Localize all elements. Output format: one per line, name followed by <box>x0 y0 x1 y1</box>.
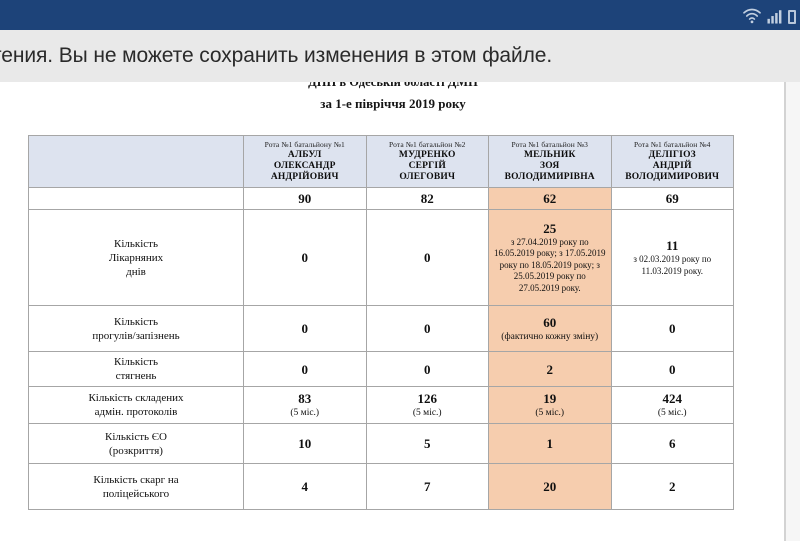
cell-value: 2 <box>489 352 612 387</box>
cell-value: 0 <box>611 306 734 352</box>
column-2-subtitle: Рота №1 батальйон №2 <box>370 140 486 150</box>
cell-value-with-note: 11 з 02.03.2019 року по 11.03.2019 року. <box>611 210 734 306</box>
cell-note: (5 міс.) <box>371 407 485 419</box>
cell-value: 7 <box>366 464 489 510</box>
battery-icon <box>788 10 796 24</box>
row-label <box>29 188 244 210</box>
table-row: Кількість прогулів/запізнень 0 0 60 (фак… <box>29 306 734 352</box>
column-3-name-line3: ВОЛОДИМИРІВНА <box>492 172 608 183</box>
cell-value: 2 <box>611 464 734 510</box>
cell-note: (5 міс.) <box>493 407 607 419</box>
cell-note: з 27.04.2019 року по 16.05.2019 року; з … <box>493 237 607 295</box>
wifi-icon <box>742 8 762 24</box>
cell-note: (5 міс.) <box>616 407 730 419</box>
cell-value-with-note: 126 (5 міс.) <box>366 387 489 424</box>
cell-number: 83 <box>298 391 311 406</box>
screen: тения. Вы не можете сохранить изменения … <box>0 0 800 541</box>
cell-value: 0 <box>244 210 367 306</box>
row-label-line1: Кількість скарг на <box>33 473 239 487</box>
column-4-name-line3: ВОЛОДИМИРОВИЧ <box>615 172 731 183</box>
cell-value: 90 <box>244 188 367 210</box>
cell-value: 10 <box>244 424 367 464</box>
column-3-name-line2: ЗОЯ <box>492 161 608 172</box>
document-title-line2: за 1-е півріччя 2019 року <box>0 96 786 112</box>
document-page: ДПП в Одеській області ДМП за 1-е півріч… <box>0 82 786 541</box>
cell-note: (фактично кожну зміну) <box>493 331 607 343</box>
row-label: Кількість складених адмін. протоколів <box>29 387 244 424</box>
row-label: Кількість прогулів/запізнень <box>29 306 244 352</box>
row-label-line2: (розкриття) <box>33 444 239 458</box>
row-label-line2: Лікарняних <box>33 251 239 265</box>
cell-value-with-note: 25 з 27.04.2019 року по 16.05.2019 року;… <box>489 210 612 306</box>
cell-value: 5 <box>366 424 489 464</box>
cell-value: 4 <box>244 464 367 510</box>
cell-value: 0 <box>366 306 489 352</box>
row-label-line2: прогулів/запізнень <box>33 329 239 343</box>
cell-note: з 02.03.2019 року по 11.03.2019 року. <box>616 254 730 277</box>
column-4-subtitle: Рота №1 батальйон №4 <box>615 140 731 150</box>
row-label-line1: Кількість <box>33 237 239 251</box>
column-4-name-line2: АНДРІЙ <box>615 161 731 172</box>
column-2-name-line2: СЕРГІЙ <box>370 161 486 172</box>
row-label-line2: поліцейського <box>33 487 239 501</box>
table-row: Кількість ЄО (розкриття) 10 5 1 6 <box>29 424 734 464</box>
row-label-line1: Кількість <box>33 315 239 329</box>
row-label-line2: адмін. протоколів <box>33 405 239 419</box>
cell-number: 60 <box>543 315 556 330</box>
column-2-name-line1: МУДРЕНКО <box>370 150 486 161</box>
column-2-name-line3: ОЛЕГОВИЧ <box>370 172 486 183</box>
cell-value: 0 <box>366 352 489 387</box>
column-1-subtitle: Рота №1 батальйону №1 <box>247 140 363 150</box>
cell-value: 0 <box>611 352 734 387</box>
row-label: Кількість ЄО (розкриття) <box>29 424 244 464</box>
table-header-row: Рота №1 батальйону №1 АЛБУЛ ОЛЕКСАНДР АН… <box>29 136 734 188</box>
cell-value-with-note: 19 (5 міс.) <box>489 387 612 424</box>
status-icons <box>742 6 796 24</box>
cell-value: 0 <box>244 352 367 387</box>
report-table: Рота №1 батальйону №1 АЛБУЛ ОЛЕКСАНДР АН… <box>28 135 734 510</box>
column-header-officer-2: Рота №1 батальйон №2 МУДРЕНКО СЕРГІЙ ОЛЕ… <box>366 136 489 188</box>
cell-value: 0 <box>244 306 367 352</box>
column-header-officer-1: Рота №1 батальйону №1 АЛБУЛ ОЛЕКСАНДР АН… <box>244 136 367 188</box>
status-bar <box>0 0 800 30</box>
readonly-notice-banner: тения. Вы не можете сохранить изменения … <box>0 30 800 82</box>
cell-value: 6 <box>611 424 734 464</box>
table-corner-cell <box>29 136 244 188</box>
cell-number: 424 <box>663 391 683 406</box>
column-header-officer-3: Рота №1 батальйон №3 МЕЛЬНИК ЗОЯ ВОЛОДИМ… <box>489 136 612 188</box>
table-row: Кількість складених адмін. протоколів 83… <box>29 387 734 424</box>
document-side-gutter <box>786 82 800 541</box>
row-label-line2: стягнень <box>33 369 239 383</box>
document-title-line1: ДПП в Одеській області ДМП <box>0 82 786 89</box>
cell-value-with-note: 60 (фактично кожну зміну) <box>489 306 612 352</box>
column-1-name-line3: АНДРІЙОВИЧ <box>247 172 363 183</box>
table-row: Кількість стягнень 0 0 2 0 <box>29 352 734 387</box>
table-row: Кількість Лікарняних днів 0 0 25 з 27.04… <box>29 210 734 306</box>
readonly-notice-text: тения. Вы не можете сохранить изменения … <box>0 44 552 68</box>
cell-value: 20 <box>489 464 612 510</box>
cellular-signal-icon <box>767 9 782 24</box>
row-label: Кількість стягнень <box>29 352 244 387</box>
row-label: Кількість скарг на поліцейського <box>29 464 244 510</box>
column-3-name-line1: МЕЛЬНИК <box>492 150 608 161</box>
cell-number: 19 <box>543 391 556 406</box>
cell-value: 1 <box>489 424 612 464</box>
row-label: Кількість Лікарняних днів <box>29 210 244 306</box>
column-3-subtitle: Рота №1 батальйон №3 <box>492 140 608 150</box>
row-label-line1: Кількість ЄО <box>33 430 239 444</box>
column-1-name-line2: ОЛЕКСАНДР <box>247 161 363 172</box>
cell-value: 0 <box>366 210 489 306</box>
row-label-line1: Кількість складених <box>33 391 239 405</box>
table-row: 90 82 62 69 <box>29 188 734 210</box>
row-label-line3: днів <box>33 265 239 279</box>
cell-number: 25 <box>543 221 556 236</box>
cell-note: (5 міс.) <box>248 407 362 419</box>
cell-value: 82 <box>366 188 489 210</box>
cell-value: 62 <box>489 188 612 210</box>
cell-number: 11 <box>666 238 678 253</box>
column-header-officer-4: Рота №1 батальйон №4 ДЕЛІГІОЗ АНДРІЙ ВОЛ… <box>611 136 734 188</box>
column-4-name-line1: ДЕЛІГІОЗ <box>615 150 731 161</box>
column-1-name-line1: АЛБУЛ <box>247 150 363 161</box>
cell-value: 69 <box>611 188 734 210</box>
document-title: ДПП в Одеській області ДМП за 1-е півріч… <box>0 82 786 112</box>
report-table-container: Рота №1 батальйону №1 АЛБУЛ ОЛЕКСАНДР АН… <box>28 135 733 510</box>
cell-value-with-note: 83 (5 міс.) <box>244 387 367 424</box>
row-label-line1: Кількість <box>33 355 239 369</box>
table-row: Кількість скарг на поліцейського 4 7 20 … <box>29 464 734 510</box>
cell-number: 126 <box>418 391 438 406</box>
cell-value-with-note: 424 (5 міс.) <box>611 387 734 424</box>
